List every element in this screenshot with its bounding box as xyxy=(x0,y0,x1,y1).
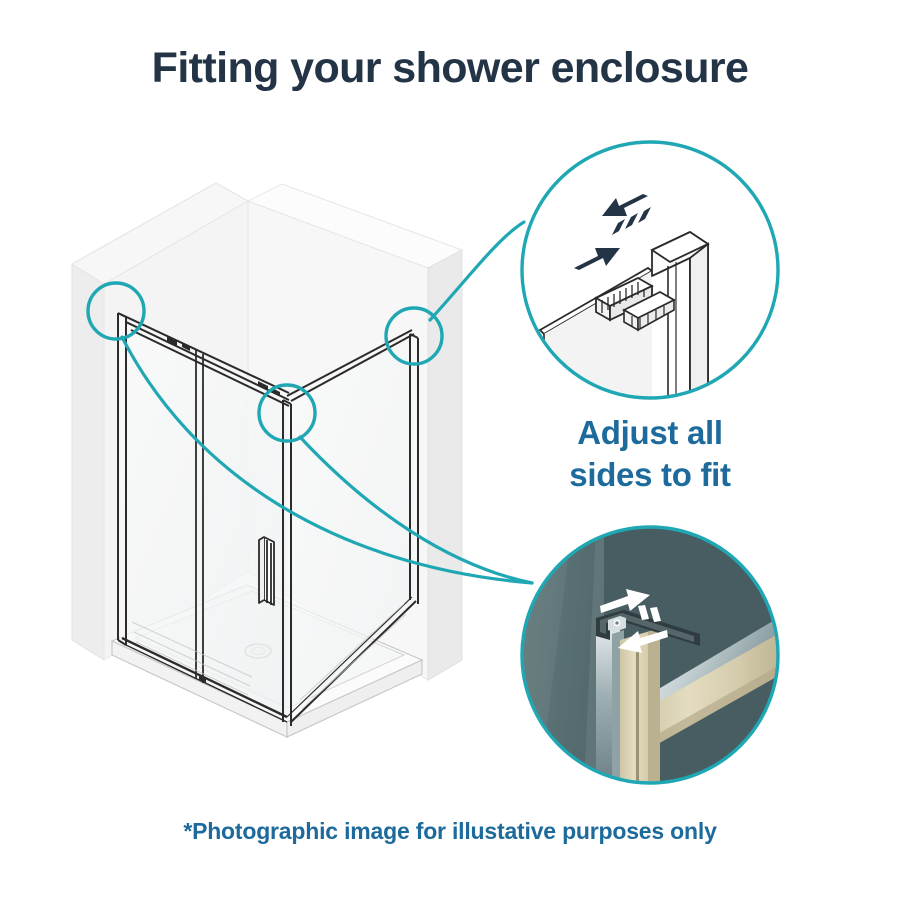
callout-heading: Adjust all sides to fit xyxy=(520,412,780,496)
detail-circle-bottom-right[interactable] xyxy=(522,527,778,783)
callout-line-2: sides to fit xyxy=(520,454,780,496)
footer-disclaimer: *Photographic image for illustative purp… xyxy=(0,818,900,845)
page-title: Fitting your shower enclosure xyxy=(0,45,900,92)
detail-circle-top-right[interactable] xyxy=(522,142,778,400)
door-handle xyxy=(259,537,274,605)
page-root: Fitting your shower enclosure Adjust all… xyxy=(0,0,900,900)
callout-line-1: Adjust all xyxy=(520,412,780,454)
